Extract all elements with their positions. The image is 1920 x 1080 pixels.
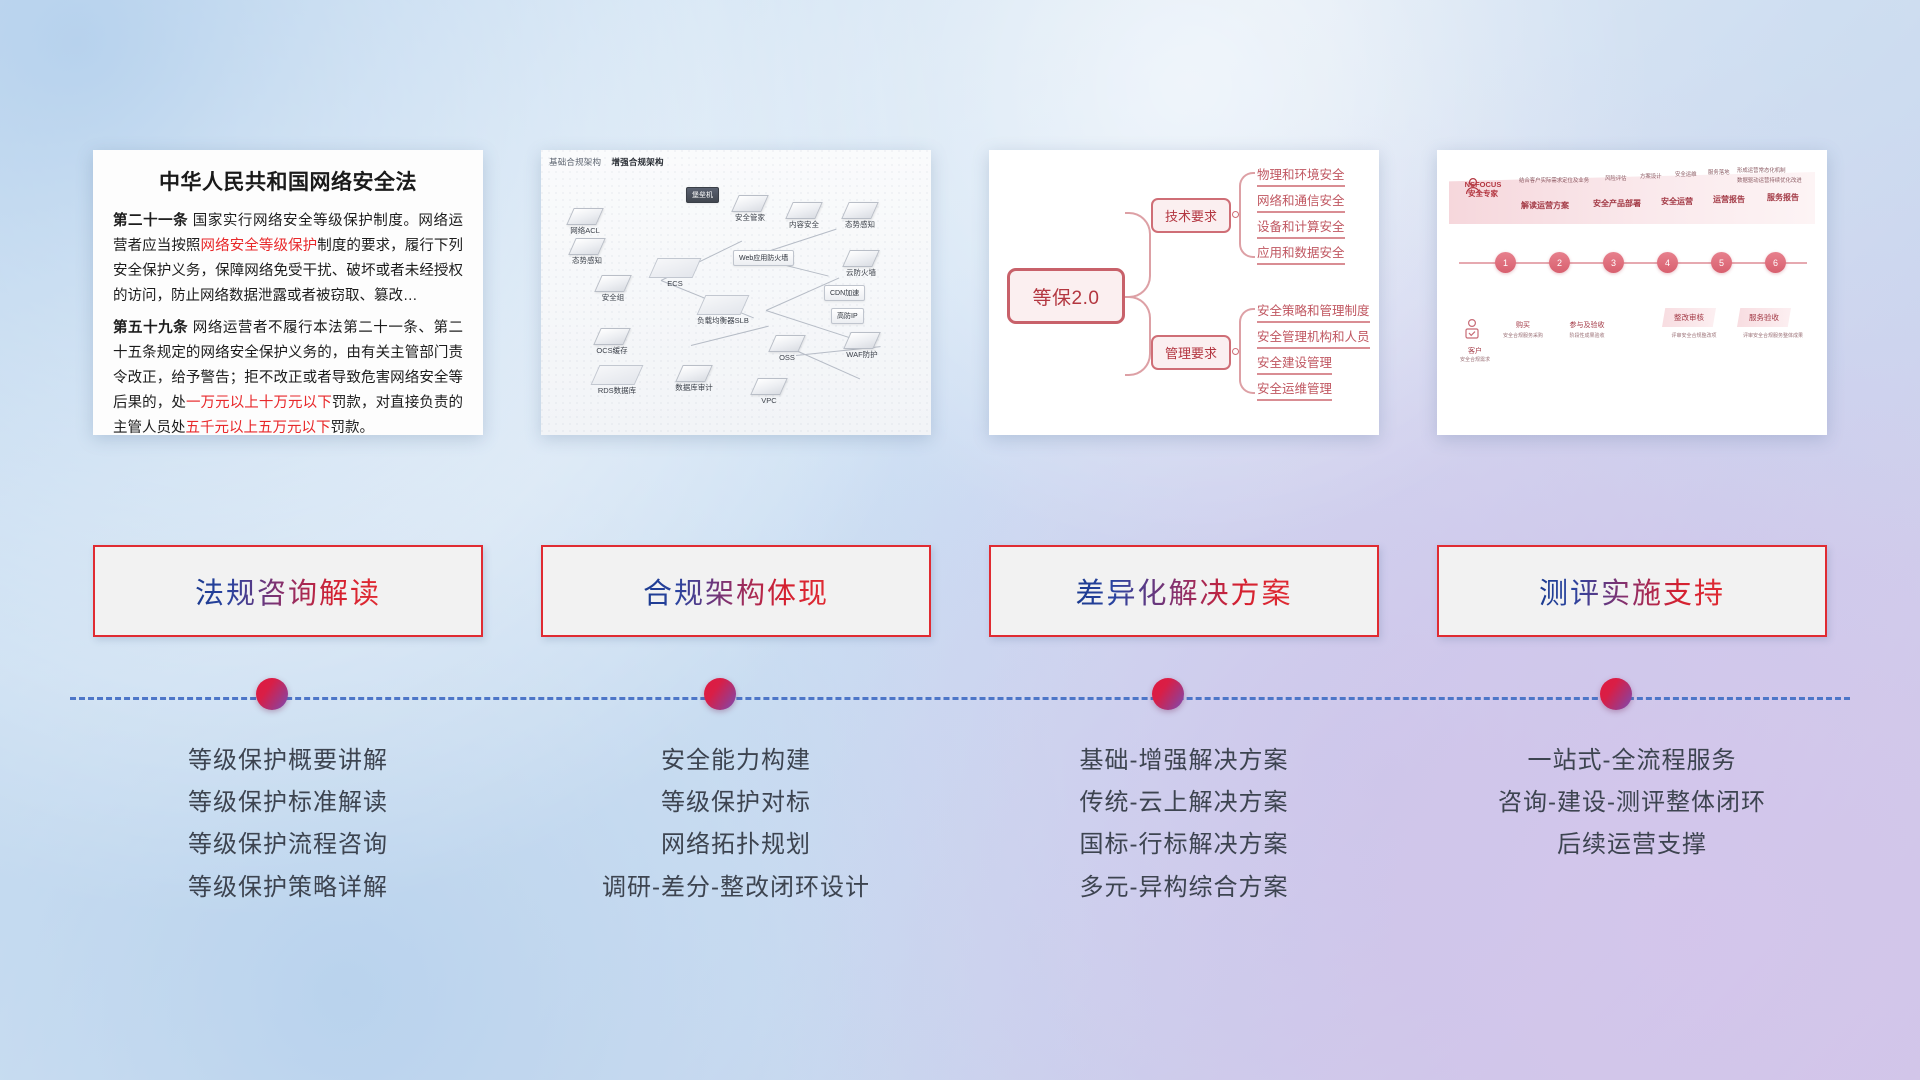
nsfocus-footer-label: 购买 — [1503, 320, 1543, 330]
arch-node-group: 云防火墙 — [841, 250, 881, 278]
arch-node-group: OSS — [769, 335, 805, 363]
article-21-label: 第二十一条 — [113, 213, 188, 229]
arch-node-label: WAF防护 — [846, 350, 877, 359]
timeline-dot-3[interactable] — [1152, 678, 1184, 710]
arch-node-label: 安全组 — [602, 293, 625, 302]
mindmap-leaf: 安全建设管理 — [1257, 352, 1332, 375]
nsfocus-footer-sub: 评审安全合规服务整体成果 — [1725, 332, 1821, 339]
nsfocus-step[interactable]: 4 — [1657, 252, 1678, 273]
nsfocus-role: 安全运营 — [1661, 196, 1693, 207]
arch-node-group: OCS缓存 — [586, 328, 638, 356]
law-article-21: 第二十一条 国家实行网络安全等级保护制度。网络运营者应当按照网络安全等级保护制度… — [113, 209, 463, 309]
pill-button-compliance-architecture[interactable]: 合规架构体现 — [541, 545, 931, 637]
arch-plate-icon — [649, 258, 702, 278]
list-column-solution: 基础-增强解决方案 传统-云上解决方案 国标-行标解决方案 多元-异构综合方案 — [989, 740, 1379, 909]
infographic-page: 中华人民共和国网络安全法 第二十一条 国家实行网络安全等级保护制度。网络运营者应… — [0, 0, 1920, 1080]
arch-node-label: VPC — [761, 396, 776, 405]
arch-plate-icon — [591, 365, 644, 385]
arch-node-group: RDS数据库 — [589, 365, 645, 396]
mindmap-curve — [1239, 308, 1255, 394]
arch-node-gaofang[interactable]: 高防IP — [831, 308, 864, 324]
article-21-highlight: 网络安全等级保护 — [201, 238, 318, 254]
nsfocus-step[interactable]: 6 — [1765, 252, 1786, 273]
pill-label: 差异化解决方案 — [1075, 570, 1292, 612]
nsfocus-footer-sub: 安全合规需求 — [1447, 356, 1503, 363]
tab-enhanced-architecture[interactable]: 增强合规架构 — [611, 157, 663, 167]
mindmap-leaf: 网络和通信安全 — [1257, 190, 1345, 213]
nsfocus-tag-acceptance[interactable]: 服务验收 — [1737, 308, 1791, 327]
pill-button-regulation-consulting[interactable]: 法规咨询解读 — [93, 545, 483, 637]
arch-node-group: ECS — [653, 258, 697, 289]
pill-buttons-row: 法规咨询解读 合规架构体现 差异化解决方案 测评实施支持 — [0, 545, 1920, 637]
mindmap-leaf: 安全策略和管理制度 — [1257, 300, 1370, 323]
article-59-highlight-1: 一万元以上十万元以下 — [186, 395, 332, 411]
arch-box-icon — [842, 250, 880, 267]
mindmap-canvas: 等保2.0 技术要求 物理和环境安全 网络和通信安全 设备和计算安全 应用和数据… — [989, 150, 1379, 435]
mindmap-leaf: 设备和计算安全 — [1257, 216, 1345, 239]
mindmap-leaf: 安全运维管理 — [1257, 378, 1332, 401]
arch-box-icon — [841, 202, 879, 219]
arch-node-group: 安全管家 — [726, 195, 774, 223]
arch-node-label: 数据库审计 — [675, 383, 713, 392]
arch-box-icon — [843, 332, 881, 349]
nsfocus-logo-line1: NSFOCUS — [1455, 180, 1511, 189]
list-item: 传统-云上解决方案 — [989, 782, 1379, 824]
list-item: 等级保护对标 — [541, 782, 931, 824]
bottom-lists-row: 等级保护概要讲解 等级保护标准解读 等级保护流程咨询 等级保护策略详解 安全能力… — [0, 740, 1920, 909]
article-59-text-c: 罚款。 — [331, 420, 375, 436]
arch-node-label: OCS缓存 — [596, 346, 627, 355]
nsfocus-top-label: 结合客户实际需求定位及业务 — [1519, 176, 1589, 184]
card-nsfocus-service-flow: NSFOCUS 安全专家 结合客户实际需求定位及业务 风险评估 方案设计 安全运… — [1437, 150, 1827, 435]
arch-node-label: 云防火墙 — [846, 268, 876, 277]
card-compliance-architecture: 基础合规架构 增强合规架构 堡垒机 网 — [541, 150, 931, 435]
arch-node-label: 安全管家 — [735, 213, 765, 222]
cards-row: 中华人民共和国网络安全法 第二十一条 国家实行网络安全等级保护制度。网络运营者应… — [0, 150, 1920, 435]
arch-node-waf[interactable]: Web应用防火墙 — [733, 250, 794, 266]
architecture-canvas: 基础合规架构 增强合规架构 堡垒机 网 — [541, 150, 931, 435]
nsfocus-top-label: 数据驱动运营持续优化改进 — [1737, 176, 1802, 184]
nsfocus-role: 安全产品部署 — [1593, 198, 1641, 209]
list-column-evaluation: 一站式-全流程服务 咨询-建设-测评整体闭环 后续运营支撑 — [1437, 740, 1827, 909]
article-59-label: 第五十九条 — [113, 320, 188, 336]
list-item: 等级保护标准解读 — [93, 782, 483, 824]
arch-node-label: 态势感知 — [845, 220, 875, 229]
list-column-architecture: 安全能力构建 等级保护对标 网络拓扑规划 调研-差分-整改闭环设计 — [541, 740, 931, 909]
timeline-dot-1[interactable] — [256, 678, 288, 710]
list-item: 等级保护策略详解 — [93, 867, 483, 909]
list-item: 等级保护概要讲解 — [93, 740, 483, 782]
arch-node-label: 网络ACL — [570, 226, 600, 235]
nsfocus-footer-label: 参与及验收 — [1557, 320, 1617, 330]
nsfocus-top-label: 服务落地 — [1708, 168, 1730, 176]
arch-box-icon — [675, 365, 713, 382]
architecture-tabs: 基础合规架构 增强合规架构 — [549, 156, 664, 168]
nsfocus-footer-sub: 阶段性成果验收 — [1547, 332, 1627, 339]
nsfocus-step[interactable]: 3 — [1603, 252, 1624, 273]
mindmap-branch-management[interactable]: 管理要求 — [1151, 335, 1231, 370]
arch-node-group: 安全组 — [591, 275, 635, 303]
timeline-dot-4[interactable] — [1600, 678, 1632, 710]
list-item: 一站式-全流程服务 — [1437, 740, 1827, 782]
nsfocus-logo: NSFOCUS 安全专家 — [1455, 180, 1511, 199]
nsfocus-canvas: NSFOCUS 安全专家 结合客户实际需求定位及业务 风险评估 方案设计 安全运… — [1437, 150, 1827, 435]
law-title: 中华人民共和国网络安全法 — [113, 166, 463, 196]
arch-node-group: 内容安全 — [781, 202, 827, 230]
arch-plate-icon — [697, 295, 750, 315]
arch-node-bastion[interactable]: 堡垒机 — [686, 187, 719, 203]
article-59-highlight-2: 五千元以上五万元以下 — [186, 420, 331, 436]
nsfocus-role: 运营报告 — [1713, 194, 1745, 205]
list-item: 安全能力构建 — [541, 740, 931, 782]
list-item: 调研-差分-整改闭环设计 — [541, 867, 931, 909]
arch-node-group: 网络ACL — [561, 208, 609, 236]
card-mindmap-dengbao: 等保2.0 技术要求 物理和环境安全 网络和通信安全 设备和计算安全 应用和数据… — [989, 150, 1379, 435]
nsfocus-role: 服务报告 — [1767, 192, 1799, 203]
timeline-dashed-line — [70, 697, 1850, 700]
nsfocus-top-label: 方案设计 — [1640, 172, 1662, 180]
mindmap-collapse-icon[interactable] — [1232, 211, 1239, 218]
list-column-regulation: 等级保护概要讲解 等级保护标准解读 等级保护流程咨询 等级保护策略详解 — [93, 740, 483, 909]
arch-node-group: 数据库审计 — [666, 365, 722, 393]
arch-node-label: 内容安全 — [789, 220, 819, 229]
arch-node-label: OSS — [779, 353, 795, 362]
customer-person-icon — [1463, 318, 1481, 340]
arch-box-icon — [566, 208, 604, 225]
mindmap-branch-technical[interactable]: 技术要求 — [1151, 198, 1231, 233]
arch-node-cdn[interactable]: CDN加速 — [824, 285, 865, 301]
nsfocus-top-label: 安全运维 — [1675, 170, 1697, 178]
nsfocus-top-label: 形成运营常态化机制 — [1737, 166, 1786, 174]
arch-box-icon — [768, 335, 806, 352]
nsfocus-role: 解读运营方案 — [1521, 200, 1569, 211]
arch-node-group: 态势感知 — [561, 238, 613, 266]
mindmap-root: 等保2.0 — [1007, 268, 1125, 324]
mindmap-leaf: 应用和数据安全 — [1257, 242, 1345, 265]
list-item: 网络拓扑规划 — [541, 824, 931, 866]
mindmap-connector — [1125, 212, 1151, 298]
list-item: 咨询-建设-测评整体闭环 — [1437, 782, 1827, 824]
nsfocus-tag-review[interactable]: 整改审核 — [1662, 308, 1716, 327]
mindmap-leaf: 物理和环境安全 — [1257, 164, 1345, 187]
pill-label: 合规架构体现 — [643, 570, 829, 612]
arch-box-icon — [594, 275, 632, 292]
list-item: 后续运营支撑 — [1437, 824, 1827, 866]
nsfocus-footer-label: 客户 — [1455, 346, 1495, 356]
arch-node-label: 态势感知 — [572, 256, 602, 265]
arch-node-group: WAF防护 — [844, 332, 880, 360]
mindmap-leaf: 安全管理机构和人员 — [1257, 326, 1370, 349]
arch-box-icon — [750, 378, 788, 395]
list-item: 多元-异构综合方案 — [989, 867, 1379, 909]
mindmap-collapse-icon[interactable] — [1232, 348, 1239, 355]
arch-box-icon — [568, 238, 606, 255]
nsfocus-step[interactable]: 5 — [1711, 252, 1732, 273]
arch-box-icon — [785, 202, 823, 219]
arch-node-label: 负载均衡器SLB — [697, 316, 749, 325]
pill-label: 测评实施支持 — [1539, 570, 1725, 612]
law-article-59: 第五十九条 网络运营者不履行本法第二十一条、第二十五条规定的网络安全保护义务的，… — [113, 316, 463, 435]
timeline-dot-2[interactable] — [704, 678, 736, 710]
nsfocus-step[interactable]: 1 — [1495, 252, 1516, 273]
mindmap-connector — [1125, 296, 1151, 376]
list-item: 等级保护流程咨询 — [93, 824, 483, 866]
mindmap-curve — [1239, 172, 1255, 258]
list-item: 国标-行标解决方案 — [989, 824, 1379, 866]
tab-basic-architecture[interactable]: 基础合规架构 — [549, 157, 601, 167]
card-cybersecurity-law: 中华人民共和国网络安全法 第二十一条 国家实行网络安全等级保护制度。网络运营者应… — [93, 150, 483, 435]
pill-label: 法规咨询解读 — [195, 570, 381, 612]
nsfocus-logo-line2: 安全专家 — [1455, 189, 1511, 198]
nsfocus-step[interactable]: 2 — [1549, 252, 1570, 273]
pill-button-differentiated-solution[interactable]: 差异化解决方案 — [989, 545, 1379, 637]
pill-button-evaluation-support[interactable]: 测评实施支持 — [1437, 545, 1827, 637]
arch-node-group: VPC — [751, 378, 787, 406]
arch-node-group: 态势感知 — [836, 202, 884, 230]
nsfocus-top-label: 风险评估 — [1605, 174, 1627, 182]
arch-node-label: ECS — [667, 279, 682, 288]
arch-box-icon — [593, 328, 631, 345]
list-item: 基础-增强解决方案 — [989, 740, 1379, 782]
arch-node-label: RDS数据库 — [598, 386, 636, 395]
arch-box-icon — [731, 195, 769, 212]
arch-wire — [691, 326, 769, 346]
arch-node-group: 负载均衡器SLB — [691, 295, 755, 326]
